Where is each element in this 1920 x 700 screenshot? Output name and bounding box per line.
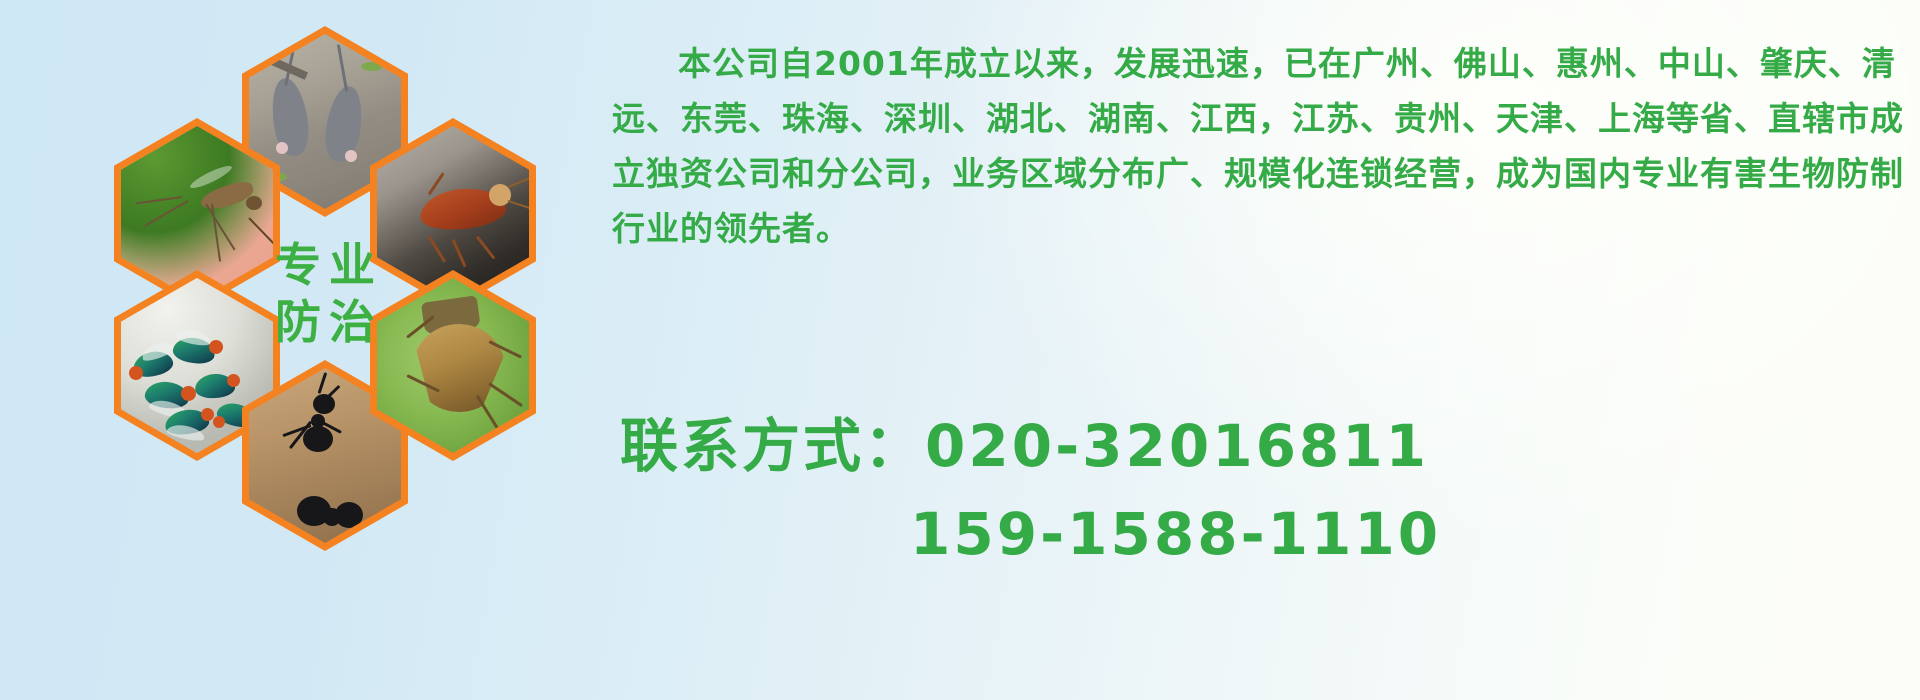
- hexagon-photo-cluster: 专业 防治: [96, 8, 596, 568]
- promo-banner: 专业 防治 本公司自2001年成立以来，发展迅速，已在广州、佛山、惠州、中山、肇…: [0, 0, 1920, 700]
- contact-mobile[interactable]: 159-1588-1110: [620, 490, 1920, 578]
- slogan-line-2: 防治: [267, 294, 383, 352]
- copy-column: 本公司自2001年成立以来，发展迅速，已在广州、佛山、惠州、中山、肇庆、清远、东…: [612, 36, 1912, 256]
- slogan-line-1: 专业: [267, 237, 383, 295]
- company-intro-paragraph: 本公司自2001年成立以来，发展迅速，已在广州、佛山、惠州、中山、肇庆、清远、东…: [612, 36, 1912, 256]
- contact-landline[interactable]: 联系方式：020-32016811: [620, 402, 1920, 490]
- contact-block: 联系方式：020-32016811 159-1588-1110: [620, 402, 1920, 578]
